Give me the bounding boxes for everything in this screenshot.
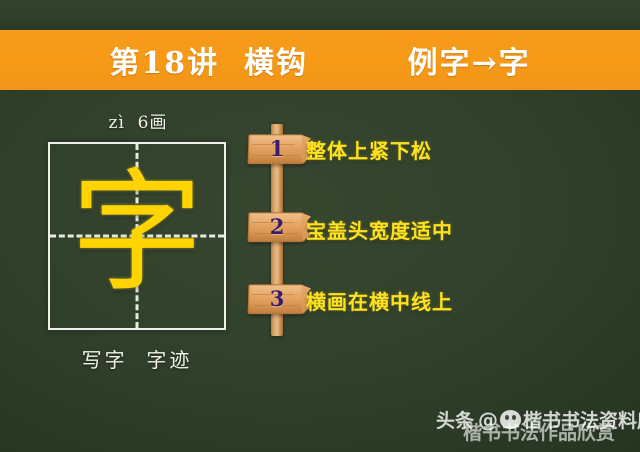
tip-number-3: 3 — [248, 284, 306, 314]
character-glyph: 字 — [50, 144, 224, 328]
tip-text-1: 整体上紧下松 — [306, 135, 432, 164]
watermark-at-symbol: @ — [478, 408, 498, 432]
page-title: 第18讲 横钩 例字→字 — [109, 38, 530, 82]
bear-avatar-icon — [500, 410, 521, 429]
watermark: 头条 @ 楷书书法资料库 — [436, 406, 640, 433]
tip-text-3: 横画在横中线上 — [306, 286, 453, 315]
tip-marker-1: 1 — [248, 134, 310, 168]
board-top-strip — [0, 0, 640, 31]
example-words: 写字 字迹 — [48, 344, 226, 373]
watermark-brand: 头条 — [436, 406, 474, 433]
tip-number-2: 2 — [248, 212, 306, 242]
tip-marker-2: 2 — [248, 212, 310, 246]
character-grid-box: 字 — [48, 142, 226, 330]
tip-marker-3: 3 — [248, 284, 310, 318]
title-banner: 第18讲 横钩 例字→字 — [0, 30, 640, 90]
pinyin-stroke-label: zì 6画 — [48, 108, 228, 133]
watermark-account: 楷书书法资料库 — [523, 406, 640, 433]
slide-canvas: 第18讲 横钩 例字→字 zì 6画 字 写字 字迹 1 2 3 整体上紧下松 … — [0, 0, 640, 452]
tip-number-1: 1 — [248, 134, 306, 164]
tip-text-2: 宝盖头宽度适中 — [306, 215, 453, 244]
